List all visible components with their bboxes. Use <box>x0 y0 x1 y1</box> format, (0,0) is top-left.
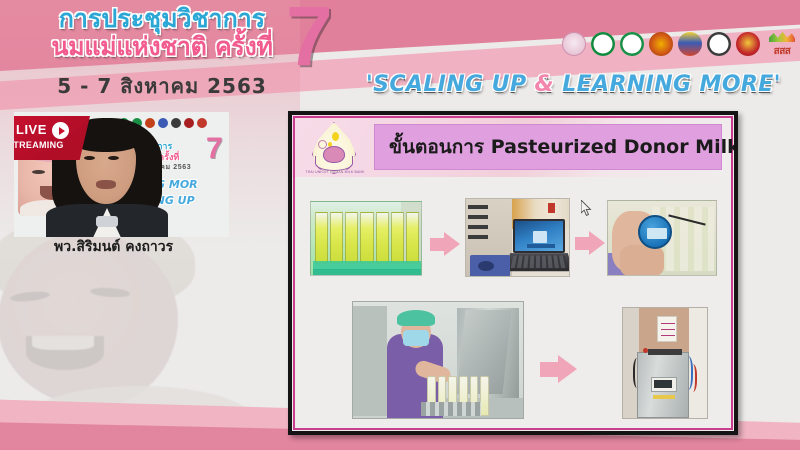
laptop-keyboard <box>506 253 570 271</box>
live-video-thumbnail[interactable]: การประชุมวิชาการ นมแม่แห่งชาติ ครั้งที่ … <box>14 112 229 237</box>
laptop-screen-icon <box>533 231 547 243</box>
child-face <box>0 232 178 407</box>
process-arrow-1-icon <box>430 232 460 256</box>
side-cabinet <box>353 306 387 416</box>
surgical-cap-icon <box>397 310 435 326</box>
laptop-screen <box>513 219 565 253</box>
department-of-health-logo <box>620 32 644 56</box>
hand-lower <box>620 245 664 276</box>
thermometer-display <box>647 228 667 239</box>
live-badge-label: LIVE <box>16 122 47 137</box>
logo-caption: THAI UNICEF HUMAN MILK BANK <box>302 170 368 174</box>
bottle-rack <box>315 212 419 264</box>
sign-line <box>661 335 675 336</box>
presenter-bowtie <box>96 216 118 227</box>
speaker-name: พว.สิริมนต์ คงถาวร <box>54 236 254 258</box>
sign-line <box>661 323 675 324</box>
presenter-eye-right <box>108 156 119 160</box>
university-seal-logo <box>707 32 731 56</box>
process-arrow-3-icon <box>540 355 577 383</box>
photo-nurse-loading-bottles <box>352 301 524 419</box>
shelf-bar <box>468 205 488 209</box>
play-icon <box>52 122 69 139</box>
photo-pasteurizer-machine <box>622 307 708 419</box>
control-display <box>654 380 672 388</box>
tagline-prefix: 'SCALING UP <box>366 72 535 97</box>
power-cable <box>633 358 643 388</box>
milk-bottle <box>391 212 404 264</box>
logo-hands-icon <box>315 156 353 171</box>
child-teeth <box>32 336 94 350</box>
sss-leaf-icon <box>769 31 795 42</box>
poster-logo-6 <box>171 118 181 128</box>
conference-edition-number: 7 <box>286 0 333 78</box>
organizer-logo-row: สสส <box>562 27 794 61</box>
shelf-bar <box>468 225 488 229</box>
conference-title-line1: การประชุมวิชาการ <box>59 4 265 33</box>
arrow-head <box>444 232 460 256</box>
thermometer-icon <box>638 215 672 249</box>
poster-edition-number: 7 <box>206 134 223 164</box>
rack-tray-lower <box>313 269 421 275</box>
warning-label <box>653 395 675 399</box>
conference-title: การประชุมวิชาการ นมแม่แห่งชาติ ครั้งที่ <box>28 6 296 59</box>
screen-root: การประชุมวิชาการ นมแม่แห่งชาติ ครั้งที่ … <box>0 0 800 450</box>
pediatric-society-logo <box>736 32 760 56</box>
streaming-badge-label: STREAMING <box>14 140 64 150</box>
presenter-eye-left <box>84 156 95 160</box>
poster-logo-8 <box>197 118 207 128</box>
drain-grid <box>421 402 481 416</box>
milk-bottle <box>406 212 419 264</box>
process-arrow-2-icon <box>575 231 605 255</box>
conference-tagline: 'SCALING UP & LEARNING MORE' <box>366 72 786 97</box>
milk-bottle <box>315 212 328 264</box>
slide-canvas: THAI UNICEF HUMAN MILK BANK ขั้นตอนการ P… <box>292 115 734 431</box>
water-hose-red <box>687 364 697 392</box>
arrow-head <box>589 231 605 255</box>
arrow-head <box>558 355 577 383</box>
conference-date: 5 - 7 สิงหาคม 2563 <box>28 70 296 102</box>
wall-poster-accent <box>548 203 555 213</box>
ministry-of-public-health-logo <box>591 32 615 56</box>
computer-mouse-icon <box>478 261 494 271</box>
arrow-shaft <box>430 238 444 251</box>
royal-college-logo <box>649 32 673 56</box>
milk-bottle <box>360 212 373 264</box>
royal-emblem-logo <box>678 32 702 56</box>
poster-logo-7 <box>184 118 194 128</box>
thai-breastfeeding-foundation-logo <box>562 32 586 56</box>
sss-label: สสส <box>774 47 791 57</box>
control-knob <box>643 348 648 353</box>
unit-top-rail <box>648 349 682 355</box>
wall-sign <box>657 316 677 342</box>
photo-temperature-probe <box>607 200 717 276</box>
arrow-shaft <box>575 237 589 250</box>
baby-eye-left <box>32 170 45 174</box>
tagline-ampersand: & <box>535 72 555 97</box>
tagline-suffix: LEARNING MORE' <box>554 72 781 97</box>
thaihealth-sss-logo: สสส <box>765 31 799 57</box>
sign-line <box>661 329 675 330</box>
shelf-bar <box>468 215 488 219</box>
slide-title: ขั้นตอนการ Pasteurized Donor Milk <box>375 132 738 162</box>
milk-bottle <box>330 212 343 264</box>
laptop-taskbar <box>527 244 555 248</box>
milk-drop-highlight <box>332 132 339 141</box>
arrow-shaft <box>540 362 558 377</box>
photo-laptop-data-record <box>465 198 570 277</box>
face-mask-icon <box>403 330 429 346</box>
conference-title-line2: นมแม่แห่งชาติ ครั้งที่ <box>28 34 296 60</box>
human-milk-bank-logo: THAI UNICEF HUMAN MILK BANK <box>306 120 364 180</box>
photo-milk-bottle-rack <box>310 201 422 276</box>
presenter-mouth <box>96 180 116 189</box>
live-streaming-badge: LIVE STREAMING <box>14 116 90 160</box>
slide-title-box: ขั้นตอนการ Pasteurized Donor Milk <box>374 124 722 170</box>
milk-bottle <box>376 212 389 264</box>
shelf-bar <box>468 235 488 239</box>
keyboard-keys <box>511 256 568 268</box>
milk-bottle <box>345 212 358 264</box>
milk-bottle <box>480 376 489 416</box>
presentation-slide[interactable]: THAI UNICEF HUMAN MILK BANK ขั้นตอนการ P… <box>288 111 738 435</box>
